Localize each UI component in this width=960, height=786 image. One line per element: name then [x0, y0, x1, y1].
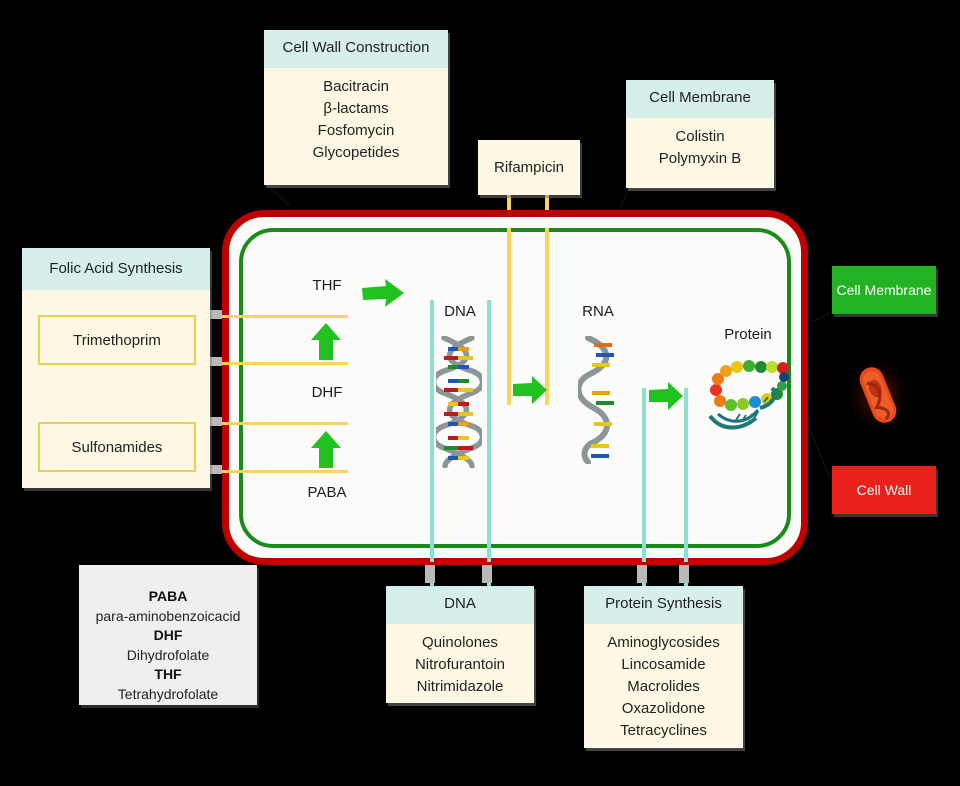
rifampicin-connector-left-inner — [507, 228, 511, 405]
list-item: Macrolides — [588, 676, 739, 698]
list-item: Glycopetides — [268, 142, 444, 164]
callout-title: Cell Membrane — [626, 80, 774, 118]
diagram-canvas: THF DHF PABA DNA RNA Protein — [0, 0, 960, 786]
callout-rifampicin[interactable]: Rifampicin — [478, 140, 580, 195]
callout-title: Protein Synthesis — [584, 586, 743, 624]
legend-abbr: THF — [79, 665, 257, 684]
dna-connector-right-inner — [487, 300, 491, 562]
callout-cell-wall-construction[interactable]: Cell Wall Construction Bacitracin β-lact… — [264, 30, 448, 185]
label-thf: THF — [300, 277, 354, 294]
arrow-paba-to-dhf-up — [310, 430, 342, 470]
arrow-dhf-to-thf-up — [310, 322, 342, 362]
dna-connector-left-inner — [430, 300, 434, 562]
arrow-dna-to-rna — [512, 375, 548, 405]
callout-protein-synthesis[interactable]: Protein Synthesis Aminoglycosides Lincos… — [584, 586, 743, 748]
list-item: Quinolones — [390, 632, 530, 654]
label-protein: Protein — [716, 326, 780, 343]
list-item: Oxazolidone — [588, 698, 739, 720]
drug-label: Sulfonamides — [72, 439, 163, 456]
protein-illustration — [706, 358, 792, 434]
list-item: Aminoglycosides — [588, 632, 739, 654]
list-item: β-lactams — [268, 98, 444, 120]
list-item: Lincosamide — [588, 654, 739, 676]
arrow-rna-to-protein — [648, 381, 684, 411]
legend-full: para-aminobenzoicacid — [79, 606, 257, 626]
list-item: Nitrofurantoin — [390, 654, 530, 676]
drug-label: Trimethoprim — [73, 332, 161, 349]
label-paba: PABA — [294, 484, 360, 501]
sulfonamides-connector-top-inner — [222, 422, 348, 425]
list-item: Colistin — [630, 126, 770, 148]
protein-connector-left-inner — [642, 388, 646, 562]
callout-drug-list: Aminoglycosides Lincosamide Macrolides O… — [584, 624, 743, 754]
badge-cell-wall[interactable]: Cell Wall — [832, 466, 936, 514]
label-dna: DNA — [434, 303, 486, 320]
callout-drug-list: Bacitracin β-lactams Fosfomycin Glycopet… — [264, 68, 448, 176]
abbreviation-legend: PABA para-aminobenzoicacid DHF Dihydrofo… — [79, 565, 257, 705]
legend-abbr: DHF — [79, 626, 257, 645]
callout-label: Rifampicin — [494, 159, 564, 176]
arrow-thf-right — [360, 278, 406, 310]
list-item: Tetracyclines — [588, 720, 739, 742]
rna-strand-illustration — [578, 336, 620, 464]
bacterium-icon — [846, 358, 910, 432]
legend-full: Dihydrofolate — [79, 645, 257, 665]
callout-title: Folic Acid Synthesis — [22, 248, 210, 290]
callout-dna[interactable]: DNA Quinolones Nitrofurantoin Nitrimidaz… — [386, 586, 534, 703]
callout-drug-list: Quinolones Nitrofurantoin Nitrimidazole — [386, 624, 534, 710]
badge-label: Cell Wall — [857, 482, 912, 498]
trimethoprim-connector-top-inner — [222, 315, 348, 318]
drug-trimethoprim[interactable]: Trimethoprim — [38, 315, 196, 365]
sulfonamides-connector-bottom-inner — [222, 470, 348, 473]
list-item: Nitrimidazole — [390, 676, 530, 698]
callout-title: DNA — [386, 586, 534, 624]
list-item: Fosfomycin — [268, 120, 444, 142]
drug-sulfonamides[interactable]: Sulfonamides — [38, 422, 196, 472]
legend-full: Tetrahydrofolate — [79, 684, 257, 704]
trimethoprim-connector-bottom-inner — [222, 362, 348, 365]
list-item: Polymyxin B — [630, 148, 770, 170]
badge-cell-membrane[interactable]: Cell Membrane — [832, 266, 936, 314]
dna-helix-illustration — [436, 336, 482, 468]
callout-cell-membrane[interactable]: Cell Membrane Colistin Polymyxin B — [626, 80, 774, 188]
list-item: Bacitracin — [268, 76, 444, 98]
label-rna: RNA — [572, 303, 624, 320]
badge-label: Cell Membrane — [837, 282, 932, 298]
protein-connector-right-inner — [684, 388, 688, 562]
label-dhf: DHF — [300, 384, 354, 401]
callout-title: Cell Wall Construction — [264, 30, 448, 68]
callout-drug-list: Colistin Polymyxin B — [626, 118, 774, 182]
legend-abbr: PABA — [79, 587, 257, 606]
